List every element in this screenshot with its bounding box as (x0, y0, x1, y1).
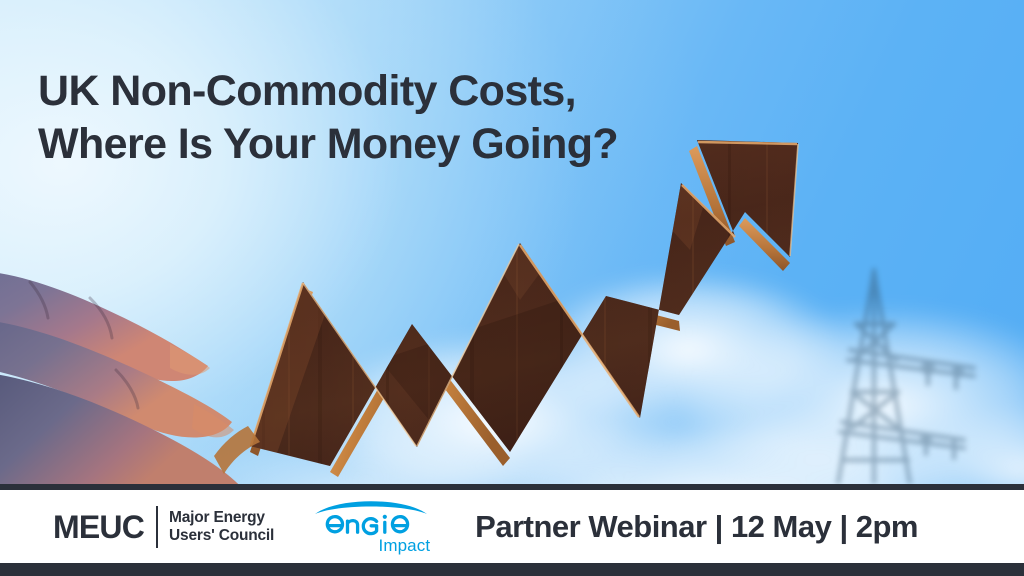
meuc-divider (156, 506, 158, 548)
engie-impact-logo[interactable]: Impact (312, 500, 430, 554)
meuc-full-name: Major Energy Users' Council (169, 509, 274, 545)
event-details: Partner Webinar | 12 May | 2pm (475, 509, 918, 545)
footer-bar: MEUC Major Energy Users' Council (0, 490, 1024, 563)
webinar-banner: UK Non-Commodity Costs, Where Is Your Mo… (0, 0, 1024, 576)
footer-bottom-bar (0, 563, 1024, 576)
hand-holding-arrow (0, 246, 300, 484)
page-title: UK Non-Commodity Costs, Where Is Your Mo… (38, 65, 758, 171)
engie-impact-label: Impact (312, 537, 430, 554)
engie-wordmark-icon (312, 500, 430, 536)
meuc-logo[interactable]: MEUC Major Energy Users' Council (53, 506, 274, 548)
meuc-wordmark: MEUC (53, 511, 144, 543)
